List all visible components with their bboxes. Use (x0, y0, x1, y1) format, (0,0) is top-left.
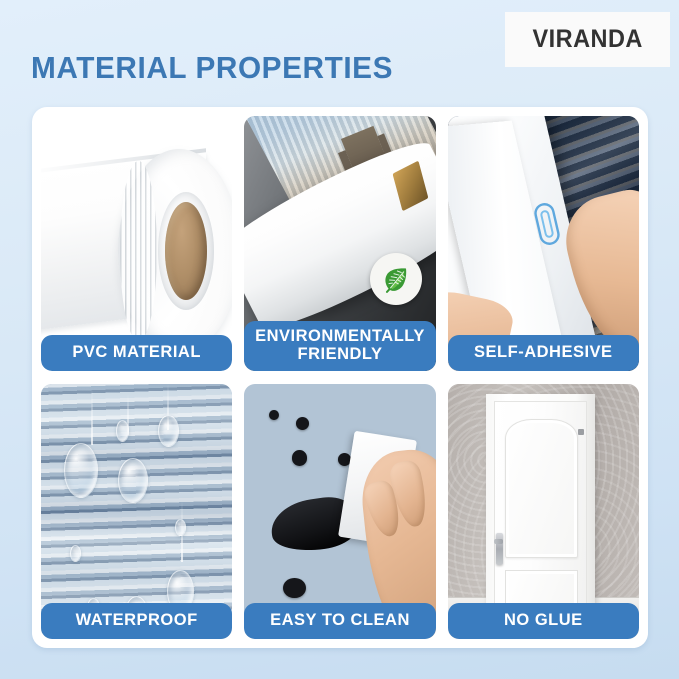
stain-spot-shape (292, 450, 307, 465)
feature-card-environmentally-friendly[interactable]: ENVIRONMENTALLY FRIENDLY (244, 116, 435, 371)
pvc-roll-core-inner-shape (165, 202, 207, 300)
feature-label-self-adhesive: SELF-ADHESIVE (448, 335, 639, 371)
feature-label-pvc-material: PVC MATERIAL (41, 335, 232, 371)
feature-label-easy-to-clean: EASY TO CLEAN (244, 603, 435, 639)
feature-card-pvc-material[interactable]: PVC MATERIAL (41, 116, 232, 371)
water-droplet-shape (158, 415, 179, 448)
stain-spot-shape (269, 410, 279, 420)
water-trail-shape (91, 389, 93, 445)
door-handle-shape (496, 533, 503, 565)
feature-card-self-adhesive[interactable]: SELF-ADHESIVE (448, 116, 639, 371)
feature-label-waterproof: WATERPROOF (41, 603, 232, 639)
pvc-roll-rings-shape (120, 161, 157, 341)
feature-label-no-glue: NO GLUE (448, 603, 639, 639)
waterproof-image (41, 384, 232, 639)
water-droplet-shape (70, 545, 82, 562)
feature-card-no-glue[interactable]: NO GLUE (448, 384, 639, 639)
door-upper-panel-shape (505, 419, 578, 558)
brand-name: VIRANDA (532, 25, 642, 54)
pvc-roll-image (41, 116, 232, 371)
door-slab-shape (494, 401, 588, 629)
page-title: MATERIAL PROPERTIES (31, 50, 393, 86)
door-frame-shape (486, 394, 595, 629)
water-droplet-shape (118, 458, 149, 503)
infographic-page: VIRANDA MATERIAL PROPERTIES PVC MATERIAL (0, 0, 679, 679)
feature-card-waterproof[interactable]: WATERPROOF (41, 384, 232, 639)
door-hinge-shape (578, 429, 584, 436)
feature-card-grid: PVC MATERIAL (41, 116, 639, 639)
feature-card-easy-to-clean[interactable]: EASY TO CLEAN (244, 384, 435, 639)
brand-logo: VIRANDA (505, 12, 670, 67)
no-glue-door-image (448, 384, 639, 639)
pvc-roll-body-shape (118, 149, 233, 353)
feature-label-environmentally-friendly: ENVIRONMENTALLY FRIENDLY (244, 321, 435, 371)
feature-panel: PVC MATERIAL (32, 107, 648, 648)
self-adhesive-image (448, 116, 639, 371)
stain-spot-shape (283, 578, 306, 598)
leaf-icon (370, 253, 422, 305)
easy-to-clean-image (244, 384, 435, 639)
water-droplet-shape (116, 420, 129, 442)
